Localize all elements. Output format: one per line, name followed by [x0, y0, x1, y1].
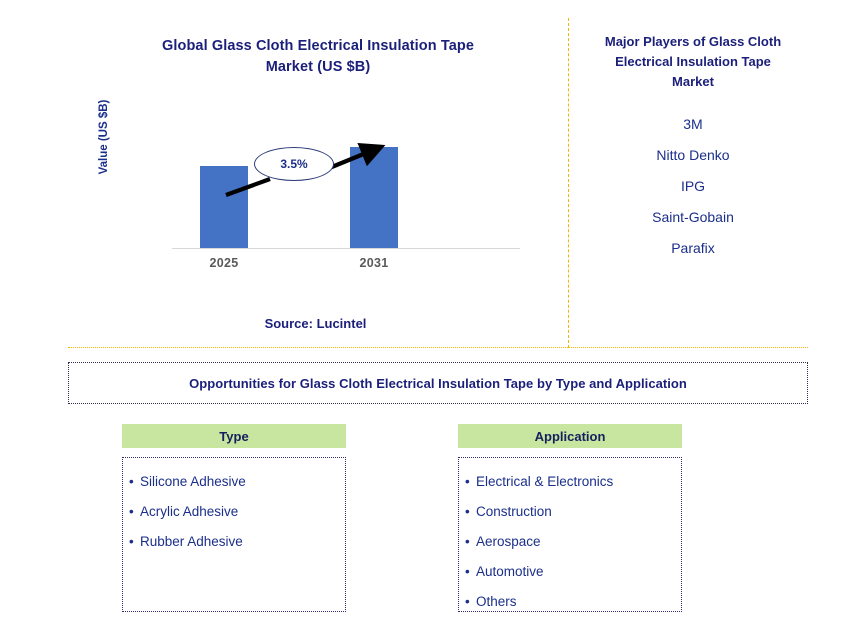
list-item: •Automotive — [465, 557, 681, 587]
infographic-canvas: Global Glass Cloth Electrical Insulation… — [0, 0, 868, 642]
segment-box-application: •Electrical & Electronics •Construction … — [458, 457, 682, 612]
market-chart-panel: Global Glass Cloth Electrical Insulation… — [68, 18, 563, 348]
list-item-label: Rubber Adhesive — [140, 534, 243, 549]
list-item: Nitto Denko — [578, 140, 808, 171]
bullet-icon: • — [465, 587, 476, 617]
segment-header-application: Application — [458, 424, 682, 448]
list-item: Parafix — [578, 233, 808, 264]
list-item: •Rubber Adhesive — [129, 527, 345, 557]
x-tick-2025: 2025 — [179, 256, 269, 270]
vertical-dotted-divider — [568, 18, 569, 348]
list-item-label: Aerospace — [476, 534, 541, 549]
bullet-icon: • — [465, 467, 476, 497]
segment-list-type: •Silicone Adhesive •Acrylic Adhesive •Ru… — [129, 467, 345, 557]
list-item: •Electrical & Electronics — [465, 467, 681, 497]
list-item-label: Silicone Adhesive — [140, 474, 246, 489]
chart-baseline — [172, 248, 520, 249]
y-axis-label: Value (US $B) — [98, 77, 112, 197]
major-players-title-line-1: Major Players of Glass Cloth — [578, 32, 808, 52]
list-item: 3M — [578, 109, 808, 140]
opportunities-banner-text: Opportunities for Glass Cloth Electrical… — [189, 376, 687, 391]
bullet-icon: • — [465, 497, 476, 527]
list-item-label: Others — [476, 594, 517, 609]
x-tick-2031: 2031 — [329, 256, 419, 270]
chart-title: Global Glass Cloth Electrical Insulation… — [118, 36, 518, 78]
major-players-panel: Major Players of Glass Cloth Electrical … — [578, 18, 808, 348]
segment-header-label: Type — [219, 429, 248, 444]
list-item-label: Electrical & Electronics — [476, 474, 613, 489]
opportunities-banner: Opportunities for Glass Cloth Electrical… — [68, 362, 808, 404]
list-item-label: Automotive — [476, 564, 544, 579]
segment-column-application: Application •Electrical & Electronics •C… — [458, 424, 682, 612]
bullet-icon: • — [129, 467, 140, 497]
bar-2025 — [200, 166, 248, 248]
segment-header-label: Application — [535, 429, 606, 444]
list-item: IPG — [578, 171, 808, 202]
list-item-label: Acrylic Adhesive — [140, 504, 238, 519]
bullet-icon: • — [129, 527, 140, 557]
segment-column-type: Type •Silicone Adhesive •Acrylic Adhesiv… — [122, 424, 346, 612]
bullet-icon: • — [465, 557, 476, 587]
bullet-icon: • — [465, 527, 476, 557]
list-item: •Aerospace — [465, 527, 681, 557]
list-item: •Others — [465, 587, 681, 617]
source-label: Source: Lucintel — [68, 316, 563, 331]
cagr-bubble: 3.5% — [254, 147, 334, 181]
segment-header-type: Type — [122, 424, 346, 448]
bullet-icon: • — [129, 497, 140, 527]
segment-box-type: •Silicone Adhesive •Acrylic Adhesive •Ru… — [122, 457, 346, 612]
list-item: •Construction — [465, 497, 681, 527]
major-players-title-line-3: Market — [578, 72, 808, 92]
major-players-title-line-2: Electrical Insulation Tape — [578, 52, 808, 72]
chart-title-line-1: Global Glass Cloth Electrical Insulation… — [118, 36, 518, 57]
chart-title-line-2: Market (US $B) — [118, 57, 518, 78]
list-item-label: Construction — [476, 504, 552, 519]
bar-2031 — [350, 147, 398, 248]
list-item: •Acrylic Adhesive — [129, 497, 345, 527]
major-players-title: Major Players of Glass Cloth Electrical … — [578, 18, 808, 92]
major-players-list: 3M Nitto Denko IPG Saint-Gobain Parafix — [578, 109, 808, 264]
list-item: Saint-Gobain — [578, 202, 808, 233]
list-item: •Silicone Adhesive — [129, 467, 345, 497]
bar-chart-plot: Value (US $B) 2025 2031 3.5% — [150, 123, 520, 253]
segment-list-application: •Electrical & Electronics •Construction … — [465, 467, 681, 617]
cagr-value: 3.5% — [280, 157, 307, 171]
